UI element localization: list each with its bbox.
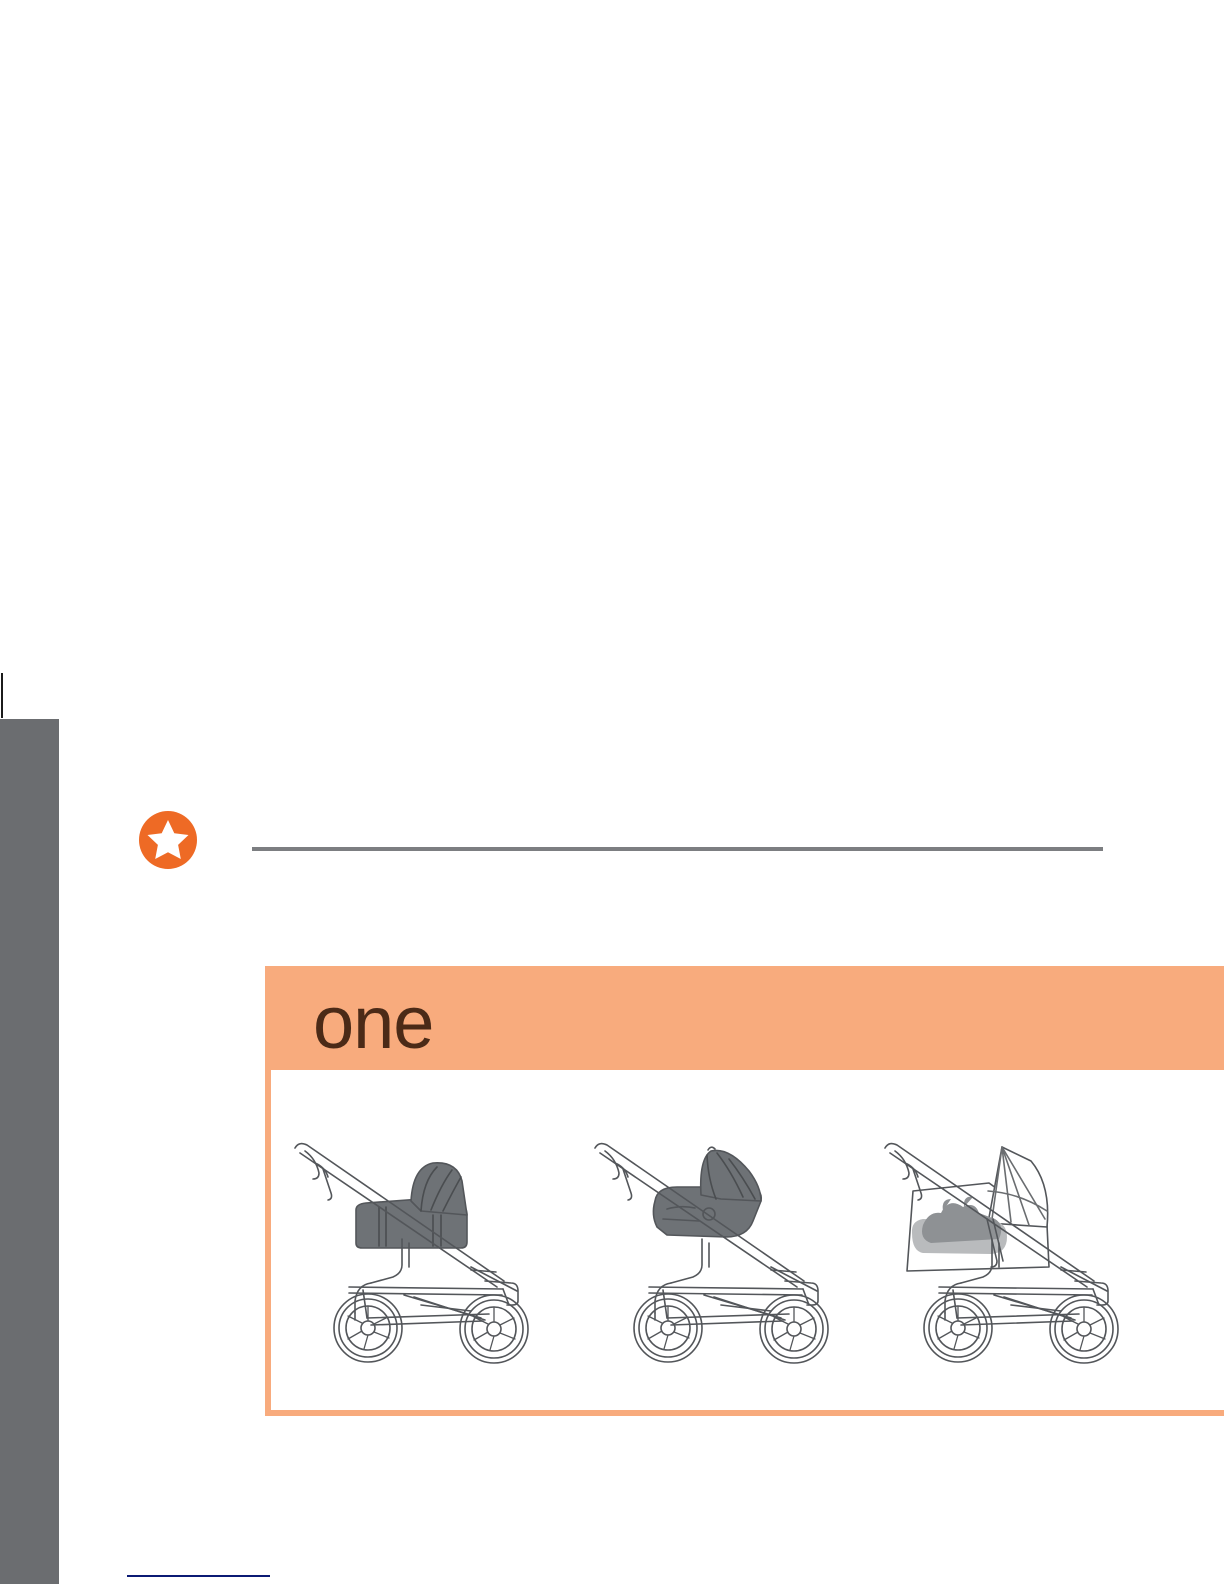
illustration-card: one [265, 966, 1224, 1416]
section-heading-rule [252, 847, 1103, 851]
card-band: one [271, 972, 1224, 1070]
page-edge-rule [1, 673, 3, 718]
section-heading [138, 805, 1103, 875]
page-root: one [0, 0, 1224, 1584]
chapter-tab [0, 719, 59, 1584]
stroller-with-carrycot [271, 1115, 571, 1365]
stroller-with-seat-unit [871, 1115, 1171, 1365]
card-band-label: one [313, 974, 433, 1072]
stroller-with-infant-car-seat [571, 1115, 871, 1365]
card-body [271, 1070, 1224, 1410]
star-badge-icon [138, 810, 198, 870]
footer-rule [127, 1575, 270, 1577]
